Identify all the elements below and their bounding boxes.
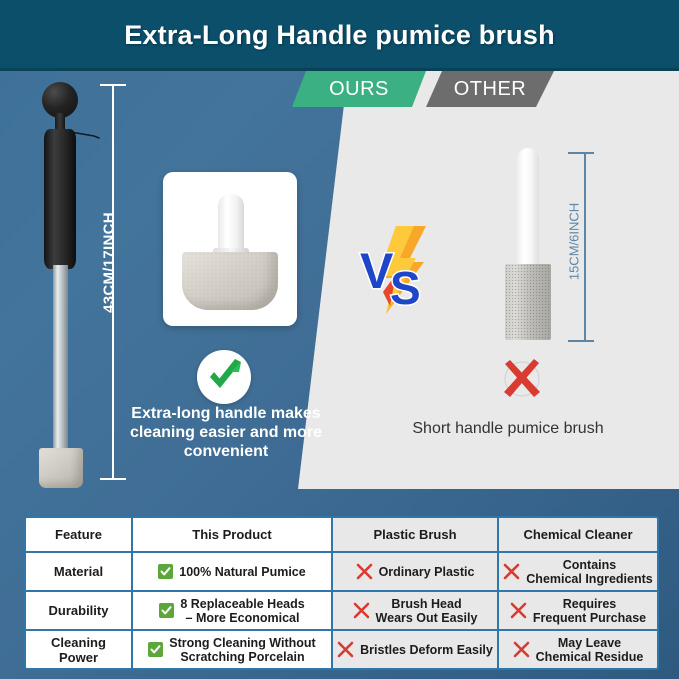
cell-this-product: 8 Replaceable Heads– More Economical <box>180 597 304 625</box>
table-row: Durability 8 Replaceable Heads– More Eco… <box>26 592 657 629</box>
short-brush-pumice-stone <box>505 264 551 340</box>
cross-mark-icon <box>498 355 546 403</box>
comparison-table: Feature This Product Plastic Brush Chemi… <box>24 516 659 670</box>
row-feature-label: Material <box>54 564 103 579</box>
col-header-plastic-brush: Plastic Brush <box>333 518 497 551</box>
dimension-cap-top <box>568 152 594 154</box>
cell-chemical-cleaner: RequiresFrequent Purchase <box>533 597 646 625</box>
header-banner: Extra-Long Handle pumice brush <box>0 0 679 71</box>
row-feature-label: Cleaning Power <box>30 635 127 665</box>
svg-text:V: V <box>360 243 394 299</box>
cell-plastic-brush: Ordinary Plastic <box>379 565 475 579</box>
cell-this-product: Strong Cleaning WithoutScratching Porcel… <box>169 636 315 664</box>
brush-steel-shaft <box>53 265 68 455</box>
cross-icon <box>510 602 527 619</box>
pumice-head-photo-card <box>163 172 297 326</box>
ours-caption: Extra-long handle makes cleaning easier … <box>126 404 326 461</box>
photo-plastic-connector <box>218 194 244 252</box>
cell-chemical-cleaner: May LeaveChemical Residue <box>536 636 644 664</box>
other-caption: Short handle pumice brush <box>358 420 658 438</box>
short-handle-brush-image <box>505 148 551 338</box>
cell-this-product: 100% Natural Pumice <box>179 565 305 579</box>
cell-chemical-cleaner: ContainsChemical Ingredients <box>526 558 652 586</box>
photo-pumice-stone <box>182 252 278 310</box>
check-icon <box>159 603 174 618</box>
page-title: Extra-Long Handle pumice brush <box>124 20 555 51</box>
ours-dimension-label: 43CM/17INCH <box>101 198 118 328</box>
cross-icon <box>513 641 530 658</box>
col-header-feature: Feature <box>26 518 131 551</box>
cross-icon <box>353 602 370 619</box>
tab-other[interactable]: OTHER <box>426 71 564 107</box>
dimension-cap-bottom <box>568 340 594 342</box>
long-handle-brush-image <box>18 82 102 482</box>
product-infographic: Extra-Long Handle pumice brush OURS OTHE… <box>0 0 679 679</box>
vs-icon: V S <box>352 222 438 318</box>
comparison-tabs: OURS OTHER <box>292 71 564 107</box>
cross-icon <box>503 563 520 580</box>
check-mark-icon <box>197 350 251 404</box>
cross-icon <box>356 563 373 580</box>
ours-dimension-line: 43CM/17INCH <box>100 84 126 480</box>
other-dimension-line: 15CM/6INCH <box>562 152 588 342</box>
table-row: Cleaning Power Strong Cleaning WithoutSc… <box>26 631 657 668</box>
other-dimension-label: 15CM/6INCH <box>567 182 582 302</box>
brush-grip <box>44 129 76 269</box>
brush-pumice-head <box>39 448 83 488</box>
cell-plastic-brush: Brush HeadWears Out Easily <box>376 597 478 625</box>
col-header-this-product: This Product <box>133 518 331 551</box>
table-header-row: Feature This Product Plastic Brush Chemi… <box>26 518 657 551</box>
row-feature-label: Durability <box>49 603 109 618</box>
short-brush-handle <box>517 148 539 270</box>
check-icon <box>148 642 163 657</box>
cell-plastic-brush: Bristles Deform Easily <box>360 643 493 657</box>
col-header-chemical-cleaner: Chemical Cleaner <box>499 518 657 551</box>
cross-icon <box>337 641 354 658</box>
tab-ours[interactable]: OURS <box>292 71 432 107</box>
dimension-cap-bottom <box>100 478 126 480</box>
table-row: Material 100% Natural Pumice Ordinary Pl… <box>26 553 657 590</box>
svg-text:S: S <box>390 262 421 314</box>
dimension-bar <box>584 152 586 342</box>
check-icon <box>158 564 173 579</box>
